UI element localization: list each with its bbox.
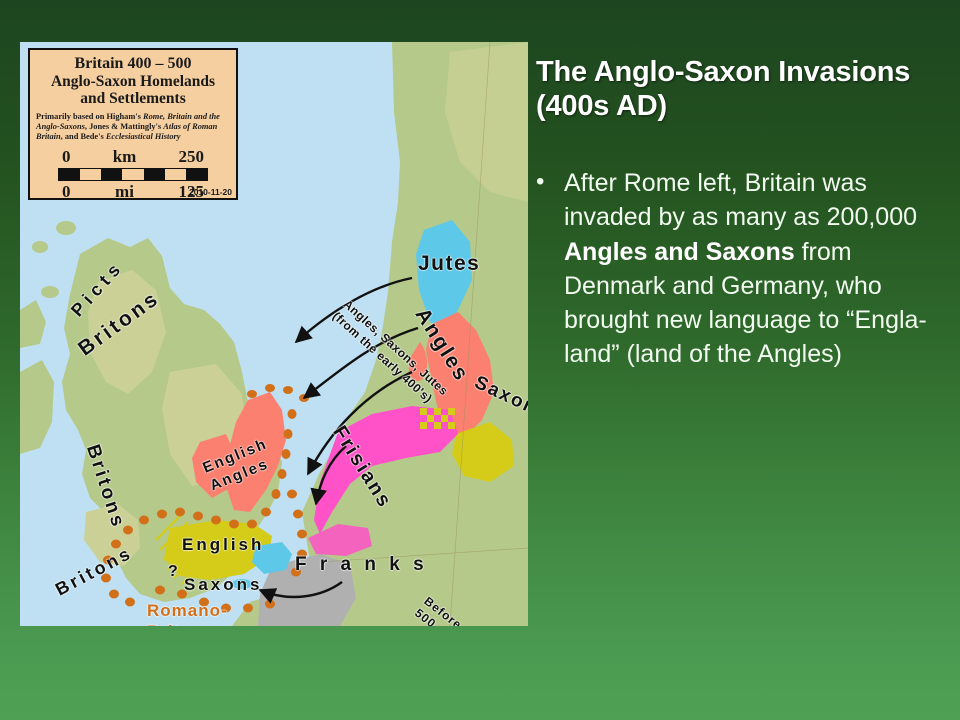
scale-bar-graphic — [58, 168, 208, 181]
map-figure: Britain 400 – 500 Anglo-Saxon Homelands … — [20, 42, 528, 626]
scale-row-km: 0 km 250 — [36, 147, 230, 167]
bullet-list: • After Rome left, Britain was invaded b… — [536, 166, 948, 372]
scale-km-unit: km — [113, 147, 137, 167]
scale-km-min: 0 — [62, 147, 71, 167]
legend-date: 2010-11-20 — [189, 187, 232, 197]
legend-title-line2: Anglo-Saxon Homelands — [36, 73, 230, 90]
bullet-text: After Rome left, Britain was invaded by … — [564, 166, 948, 372]
map-legend-box: Britain 400 – 500 Anglo-Saxon Homelands … — [28, 48, 238, 200]
legend-title-line3: and Settlements — [36, 90, 230, 107]
slide-title: The Anglo-Saxon Invasions (400s AD) — [536, 55, 948, 123]
scale-km-max: 250 — [179, 147, 205, 167]
legend-attribution: Primarily based on Higham's Rome, Britai… — [36, 112, 230, 142]
list-item: • After Rome left, Britain was invaded b… — [536, 166, 948, 372]
scale-mi-unit: mi — [115, 182, 134, 202]
legend-title-line1: Britain 400 – 500 — [36, 55, 230, 73]
bullet-dot-icon: • — [536, 166, 564, 372]
scale-mi-min: 0 — [62, 182, 71, 202]
